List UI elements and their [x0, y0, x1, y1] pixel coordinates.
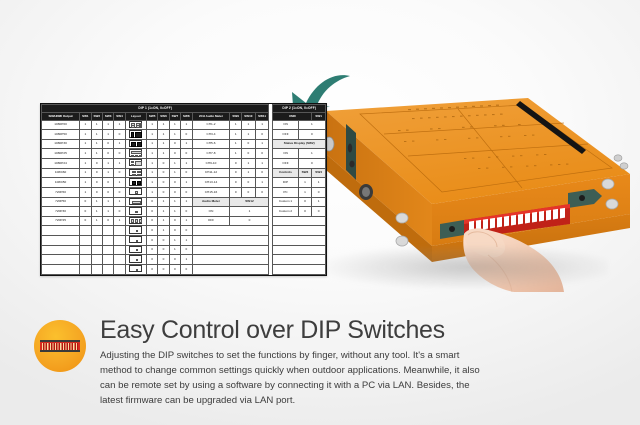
- cell-b-sw5: 1: [146, 149, 157, 159]
- cell-a-sw3: 1: [102, 197, 113, 207]
- cell-empty: [80, 264, 91, 274]
- cell-b-sw8: 1: [181, 159, 192, 169]
- cell-resolution: 1080P30: [42, 139, 80, 149]
- cell-a-sw4: 1: [114, 216, 125, 226]
- cell-resolution: 1080P50: [42, 130, 80, 140]
- cell-b-sw7: 0: [169, 226, 180, 236]
- cell-b-sw6: 0: [158, 236, 169, 246]
- cell-b-sw7: 0: [169, 187, 180, 197]
- cell-layout: [125, 139, 146, 149]
- cell-a-sw3: 0: [102, 216, 113, 226]
- header-sw8: SW8: [181, 113, 192, 121]
- cell-audio-channel: CH5-6: [192, 139, 230, 149]
- cell-b-sw7: 0: [169, 178, 180, 188]
- cell-empty: [192, 264, 269, 274]
- header-sw1: SW1: [80, 113, 91, 121]
- cell-a-sw3: 1: [102, 168, 113, 178]
- cell-c-sw10: 0: [241, 178, 255, 188]
- layout-icon-single-dot-b: [129, 246, 142, 253]
- cell-a-sw2: 1: [91, 139, 102, 149]
- layout-icon-single-center: [129, 188, 142, 195]
- cell-b-sw7: 0: [169, 255, 180, 265]
- cell-b-sw8: 0: [181, 187, 192, 197]
- cell-layout: [125, 216, 146, 226]
- header-sw3: SW3: [102, 113, 113, 121]
- cell-b-sw8: 0: [181, 130, 192, 140]
- cell-a-sw2: 0: [91, 168, 102, 178]
- cell-resolution: 1080P24: [42, 159, 80, 169]
- cell-c-sw9: 0: [230, 178, 241, 188]
- cell-empty: [114, 264, 125, 274]
- cell-c-sw10: 1: [241, 130, 255, 140]
- cell-empty: [192, 226, 269, 236]
- cell-b-sw7: 0: [169, 216, 180, 226]
- cell-empty: [42, 264, 80, 274]
- cell-empty: [42, 226, 80, 236]
- cell-empty: [42, 245, 80, 255]
- page-root: DIP 1 (1=ON, 0=OFF) DIP 2 (1=ON, 0=OFF) …: [0, 0, 640, 425]
- cell-control-2-sw3: 0: [298, 197, 312, 207]
- table-row: 0010: [42, 245, 326, 255]
- device-shadow: [328, 246, 608, 288]
- cell-audio-channel: CH9-10: [192, 159, 230, 169]
- cell-layout: [125, 226, 146, 236]
- cell-a-sw4: 0: [114, 130, 125, 140]
- cell-control-1-sw4: 0: [312, 187, 326, 197]
- layout-icon-single-dot: [129, 236, 142, 243]
- cell-a-sw1: 0: [80, 197, 91, 207]
- cell-b-sw6: 1: [158, 149, 169, 159]
- cell-a-sw2: 1: [91, 216, 102, 226]
- cell-control-1: PC: [273, 187, 298, 197]
- cell-empty: [80, 226, 91, 236]
- cell-audio-channel: CH15-16: [192, 187, 230, 197]
- cell-layout: [125, 245, 146, 255]
- cell-c-sw10: 1: [241, 159, 255, 169]
- header-layout: Layout: [125, 113, 146, 121]
- cell-b-sw7: 1: [169, 245, 180, 255]
- cell-a-sw3: 1: [102, 207, 113, 217]
- header-sw6: SW6: [158, 113, 169, 121]
- cell-audio-channel: CH1-2: [192, 120, 230, 130]
- cell-a-sw1: 1: [80, 120, 91, 130]
- dip-switch-icon: [34, 320, 86, 372]
- cell-resolution: 1080i60: [42, 168, 80, 178]
- cell-empty: [114, 236, 125, 246]
- cell-b-sw6: 1: [158, 139, 169, 149]
- cell-b-sw7: 1: [169, 197, 180, 207]
- cell-b-sw8: 0: [181, 207, 192, 217]
- cell-c-sw10: 0: [241, 139, 255, 149]
- cell-a-sw2: 0: [91, 187, 102, 197]
- cell-empty: [192, 245, 269, 255]
- cell-a-sw2: 0: [91, 178, 102, 188]
- cell-b-sw5: 0: [146, 197, 157, 207]
- cell-empty: [192, 255, 269, 265]
- cell-b-sw8: 1: [181, 120, 192, 130]
- cell-b-sw8: 1: [181, 197, 192, 207]
- cell-b-sw6: 0: [158, 168, 169, 178]
- cell-b-sw8: 1: [181, 216, 192, 226]
- dip-switch-spec-table: DIP 1 (1=ON, 0=OFF) DIP 2 (1=ON, 0=OFF) …: [40, 103, 327, 276]
- cell-status-title: Status Display (SW2): [273, 139, 326, 149]
- cell-b-sw5: 0: [146, 245, 157, 255]
- cell-a-sw1: 1: [80, 187, 91, 197]
- cell-c-sw9: 0: [230, 187, 241, 197]
- cell-control-0-sw4: 1: [312, 178, 326, 188]
- cell-audio-channel: CH3-4: [192, 130, 230, 140]
- cell-empty: [91, 255, 102, 265]
- cell-a-sw1: 1: [80, 149, 91, 159]
- cell-a-sw1: 0: [80, 207, 91, 217]
- cell-c-sw9: 1: [230, 149, 241, 159]
- page-title: Easy Control over DIP Switches: [100, 316, 445, 345]
- cell-b-sw6: 0: [158, 245, 169, 255]
- cell-c-sw11: 1: [255, 159, 269, 169]
- table-row: 1080P2410111011CH9-10011OFF0: [42, 159, 326, 169]
- cell-empty: [102, 255, 113, 265]
- cell-c-sw10: 1: [241, 120, 255, 130]
- cell-a-sw1: 1: [80, 139, 91, 149]
- cell-a-sw1: 0: [80, 216, 91, 226]
- cell-control-0: DIP: [273, 178, 298, 188]
- cell-c-sw10: 0: [241, 149, 255, 159]
- cell-audio-bit: 0: [230, 216, 269, 226]
- cell-a-sw4: 1: [114, 139, 125, 149]
- cell-a-sw1: 1: [80, 168, 91, 178]
- cell-control-3-sw4: 0: [312, 207, 326, 217]
- dip-switch-glyph: [40, 340, 80, 352]
- cell-layout: [125, 120, 146, 130]
- cell-a-sw4: 0: [114, 168, 125, 178]
- cell-empty: [80, 255, 91, 265]
- cell-umd-on-bit: 1: [298, 120, 325, 130]
- cell-empty: [273, 216, 326, 226]
- cell-b-sw5: 0: [146, 226, 157, 236]
- cell-layout: [125, 168, 146, 178]
- cell-layout: [125, 187, 146, 197]
- dip1-title: DIP 1 (1=ON, 0=OFF): [42, 105, 269, 113]
- table-row: 1080P5011101110CH3-4110OFF0: [42, 130, 326, 140]
- cell-audio-channel: CH13-14: [192, 178, 230, 188]
- table-header-row: SDI/HDMI Output SW1 SW2 SW3 SW4 Layout S…: [42, 113, 326, 121]
- table-row: 1080P6011111111CH1-2111ON1: [42, 120, 326, 130]
- header-umd-sw1: SW1: [312, 113, 326, 121]
- cell-empty: [192, 236, 269, 246]
- cell-layout: [125, 264, 146, 274]
- cell-controls-sw3: SW3: [298, 168, 312, 178]
- cell-empty: [102, 264, 113, 274]
- cell-b-sw8: 0: [181, 264, 192, 274]
- header-sw7: SW7: [169, 113, 180, 121]
- cell-layout: [125, 159, 146, 169]
- cell-b-sw8: 1: [181, 236, 192, 246]
- cell-c-sw10: 1: [241, 168, 255, 178]
- cell-audio-state: ON: [192, 207, 230, 217]
- cell-a-sw4: 1: [114, 159, 125, 169]
- cell-control-2: Custom 1: [273, 197, 298, 207]
- cell-a-sw3: 0: [102, 139, 113, 149]
- cell-empty: [102, 245, 113, 255]
- cell-c-sw9: 0: [230, 168, 241, 178]
- cell-resolution: 1080P60: [42, 120, 80, 130]
- cell-a-sw4: 1: [114, 197, 125, 207]
- cell-b-sw6: 1: [158, 226, 169, 236]
- cell-c-sw9: 1: [230, 139, 241, 149]
- cell-c-sw9: 1: [230, 120, 241, 130]
- cell-b-sw8: 1: [181, 178, 192, 188]
- cell-a-sw2: 0: [91, 159, 102, 169]
- cell-empty: [80, 236, 91, 246]
- cell-b-sw5: 0: [146, 216, 157, 226]
- cell-a-sw4: 0: [114, 187, 125, 197]
- cell-a-sw3: 1: [102, 120, 113, 130]
- cell-c-sw10: 0: [241, 187, 255, 197]
- layout-icon-single-dot-c: [129, 255, 142, 262]
- layout-icon-pip-side-left: [129, 130, 142, 137]
- table-row: 1080i5010011001CH13-14001DIP11: [42, 178, 326, 188]
- cell-control-1-sw3: 1: [298, 187, 312, 197]
- cell-audio-channel: CH7-8: [192, 149, 230, 159]
- cell-audio-meter-title: Audio Meter: [192, 197, 230, 207]
- header-sw11: SW11: [255, 113, 269, 121]
- cell-c-sw11: 0: [255, 149, 269, 159]
- table-row: 0000: [42, 264, 326, 274]
- cell-audio-meter-sw: SW12: [230, 197, 269, 207]
- cell-empty: [114, 245, 125, 255]
- layout-icon-single-small: [129, 207, 142, 214]
- cell-a-sw3: 0: [102, 149, 113, 159]
- cell-control-3-sw3: 0: [298, 207, 312, 217]
- cell-control-2-sw4: 1: [312, 197, 326, 207]
- cell-b-sw7: 0: [169, 139, 180, 149]
- cell-layout: [125, 149, 146, 159]
- cell-resolution: 720P30: [42, 207, 80, 217]
- cell-resolution: 1080i50: [42, 178, 80, 188]
- cell-empty: [273, 255, 326, 265]
- cell-controls-title: Controls: [273, 168, 298, 178]
- dip-switch-device: [312, 96, 634, 292]
- cell-empty: [91, 245, 102, 255]
- layout-icon-quad-small: [129, 169, 142, 176]
- header-umd: UMD: [273, 113, 312, 121]
- cell-b-sw6: 1: [158, 207, 169, 217]
- cell-c-sw11: 0: [255, 187, 269, 197]
- cell-umd-on: ON: [273, 120, 298, 130]
- cell-c-sw11: 1: [255, 120, 269, 130]
- table-title-row: DIP 1 (1=ON, 0=OFF) DIP 2 (1=ON, 0=OFF): [42, 105, 326, 113]
- cell-a-sw3: 0: [102, 187, 113, 197]
- cell-empty: [114, 226, 125, 236]
- layout-icon-triple-row: [129, 217, 142, 224]
- cell-empty: [273, 245, 326, 255]
- cell-c-sw11: 0: [255, 130, 269, 140]
- table-row: 0011: [42, 236, 326, 246]
- cell-umd-off-bit: 0: [298, 130, 325, 140]
- cell-control-3: Custom 2: [273, 207, 298, 217]
- cell-b-sw6: 0: [158, 159, 169, 169]
- cell-a-sw4: 1: [114, 178, 125, 188]
- table-row: 720P3001100110ON1Custom 200: [42, 207, 326, 217]
- cell-empty: [91, 226, 102, 236]
- cell-audio-channel: CH11-12: [192, 168, 230, 178]
- table-row: 720P5001110111Audio MeterSW12Custom 101: [42, 197, 326, 207]
- dip2-title: DIP 2 (1=ON, 0=OFF): [273, 105, 326, 113]
- feature-description: Adjusting the DIP switches to set the fu…: [100, 348, 484, 409]
- cell-b-sw8: 0: [181, 149, 192, 159]
- layout-icon-top-large-bottom-row: [129, 149, 142, 156]
- cell-b-sw6: 1: [158, 197, 169, 207]
- cell-empty: [273, 264, 326, 274]
- header-audio-meter: 2CH Audio Meter: [192, 113, 230, 121]
- layout-icon-single-tiny: [129, 226, 142, 233]
- cell-audio-state: OFF: [192, 216, 230, 226]
- cell-umd-off: OFF: [273, 130, 298, 140]
- cell-control-0-sw3: 1: [298, 178, 312, 188]
- cell-status-on-bit: 1: [298, 149, 325, 159]
- cell-b-sw8: 0: [181, 226, 192, 236]
- cell-b-sw5: 1: [146, 159, 157, 169]
- cell-b-sw5: 0: [146, 264, 157, 274]
- cell-b-sw5: 1: [146, 120, 157, 130]
- cell-a-sw3: 0: [102, 178, 113, 188]
- table-row: 0100: [42, 226, 326, 236]
- cell-c-sw11: 1: [255, 178, 269, 188]
- cell-empty: [273, 226, 326, 236]
- cell-b-sw8: 1: [181, 139, 192, 149]
- cell-empty: [80, 245, 91, 255]
- cell-empty: [91, 264, 102, 274]
- cell-a-sw2: 1: [91, 149, 102, 159]
- cell-a-sw4: 0: [114, 149, 125, 159]
- cell-layout: [125, 178, 146, 188]
- header-sdi-output: SDI/HDMI Output: [42, 113, 80, 121]
- cell-c-sw9: 1: [230, 130, 241, 140]
- cell-b-sw7: 1: [169, 130, 180, 140]
- table-row: 1080P2511001100CH7-8100ON1: [42, 149, 326, 159]
- cell-empty: [42, 236, 80, 246]
- layout-icon-two-dark-blocks: [129, 178, 142, 185]
- cell-a-sw1: 1: [80, 159, 91, 169]
- cell-layout: [125, 207, 146, 217]
- cell-audio-bit: 1: [230, 207, 269, 217]
- cell-c-sw11: 0: [255, 168, 269, 178]
- cell-status-on: ON: [273, 149, 298, 159]
- cell-b-sw5: 1: [146, 139, 157, 149]
- layout-icon-single-dot-d: [129, 265, 142, 272]
- cell-a-sw3: 1: [102, 130, 113, 140]
- cell-a-sw2: 1: [91, 197, 102, 207]
- cell-layout: [125, 197, 146, 207]
- table-row: 720P2501010101OFF0: [42, 216, 326, 226]
- cell-b-sw8: 0: [181, 245, 192, 255]
- cell-b-sw7: 1: [169, 207, 180, 217]
- cell-resolution: 720P60: [42, 187, 80, 197]
- cell-layout: [125, 130, 146, 140]
- cell-b-sw7: 1: [169, 236, 180, 246]
- cell-empty: [102, 226, 113, 236]
- cell-a-sw3: 1: [102, 159, 113, 169]
- table-row: 720P6010001000CH15-16000PC10: [42, 187, 326, 197]
- cell-empty: [114, 255, 125, 265]
- table-body: 1080P6011111111CH1-2111ON11080P501110111…: [42, 120, 326, 274]
- cell-controls-sw4: SW4: [312, 168, 326, 178]
- header-sw9: SW9: [230, 113, 241, 121]
- cell-empty: [102, 236, 113, 246]
- layout-icon-left-col-right-large: [129, 159, 142, 166]
- cell-b-sw7: 0: [169, 264, 180, 274]
- table-row: 1080i6010101010CH11-12010ControlsSW3SW4: [42, 168, 326, 178]
- cell-b-sw7: 1: [169, 120, 180, 130]
- cell-b-sw7: 1: [169, 159, 180, 169]
- table-row: 0001: [42, 255, 326, 265]
- cell-c-sw9: 0: [230, 159, 241, 169]
- cell-resolution: 720P50: [42, 197, 80, 207]
- layout-icon-single-wide: [129, 198, 142, 205]
- cell-b-sw6: 0: [158, 264, 169, 274]
- cell-b-sw8: 1: [181, 255, 192, 265]
- cell-status-off-bit: 0: [298, 159, 325, 169]
- cell-b-sw5: 1: [146, 168, 157, 178]
- cell-b-sw5: 1: [146, 178, 157, 188]
- layout-icon-grid-4x4: [129, 121, 142, 128]
- cell-b-sw6: 0: [158, 255, 169, 265]
- cell-a-sw1: 1: [80, 178, 91, 188]
- cell-empty: [91, 236, 102, 246]
- cell-layout: [125, 255, 146, 265]
- layout-icon-split-two-dark: [129, 140, 142, 147]
- cell-resolution: 720P25: [42, 216, 80, 226]
- header-sw5: SW5: [146, 113, 157, 121]
- header-sw10: SW10: [241, 113, 255, 121]
- cell-b-sw6: 1: [158, 130, 169, 140]
- cell-status-off: OFF: [273, 159, 298, 169]
- cell-b-sw7: 0: [169, 149, 180, 159]
- header-sw4: SW4: [114, 113, 125, 121]
- cell-b-sw5: 1: [146, 130, 157, 140]
- cell-b-sw5: 0: [146, 255, 157, 265]
- cell-layout: [125, 236, 146, 246]
- cell-b-sw6: 0: [158, 178, 169, 188]
- cell-resolution: 1080P25: [42, 149, 80, 159]
- cell-b-sw5: 0: [146, 207, 157, 217]
- cell-empty: [273, 236, 326, 246]
- cell-b-sw6: 1: [158, 216, 169, 226]
- cell-b-sw5: 0: [146, 236, 157, 246]
- cell-a-sw4: 0: [114, 207, 125, 217]
- cell-empty: [42, 255, 80, 265]
- cell-a-sw2: 1: [91, 207, 102, 217]
- cell-b-sw7: 1: [169, 168, 180, 178]
- cell-a-sw1: 1: [80, 130, 91, 140]
- cell-b-sw5: 1: [146, 187, 157, 197]
- cell-a-sw2: 1: [91, 130, 102, 140]
- cell-b-sw6: 0: [158, 187, 169, 197]
- cell-b-sw6: 1: [158, 120, 169, 130]
- table-row: 1080P3011011101CH5-6101Status Display (S…: [42, 139, 326, 149]
- cell-b-sw8: 0: [181, 168, 192, 178]
- cell-a-sw4: 1: [114, 120, 125, 130]
- header-sw2: SW2: [91, 113, 102, 121]
- cell-c-sw11: 1: [255, 139, 269, 149]
- cell-a-sw2: 1: [91, 120, 102, 130]
